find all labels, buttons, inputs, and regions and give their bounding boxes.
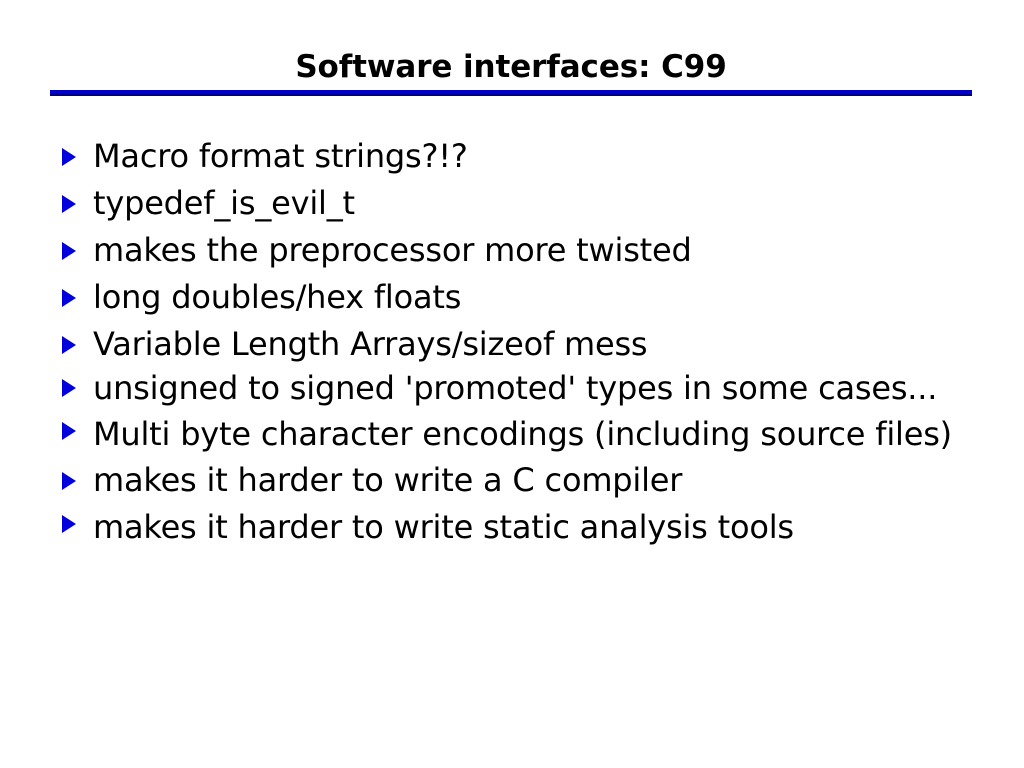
list-item: Variable Length Arrays/sizeof mess	[56, 321, 968, 368]
triangle-right-icon	[62, 242, 76, 260]
list-item-label: Variable Length Arrays/sizeof mess	[93, 321, 968, 368]
list-item: makes it harder to write a C compiler	[56, 457, 968, 504]
list-item-label: unsigned to signed 'promoted' types in s…	[93, 368, 968, 408]
list-item: Multi byte character encodings (includin…	[56, 411, 968, 457]
triangle-right-icon	[62, 422, 76, 440]
list-item: typedef_is_evil_t	[56, 180, 968, 227]
triangle-right-icon	[62, 289, 76, 307]
list-item: long doubles/hex floats	[56, 274, 968, 321]
list-item-label: Multi byte character encodings (includin…	[93, 411, 968, 457]
list-item: makes the preprocessor more twisted	[56, 227, 968, 274]
list-item: makes it harder to write static analysis…	[56, 504, 968, 550]
page-title: Software interfaces: C99	[50, 50, 972, 84]
list-item-label: Macro format strings?!?	[93, 133, 968, 180]
list-item: Macro format strings?!?	[56, 133, 968, 180]
triangle-right-icon	[62, 195, 76, 213]
triangle-right-icon	[62, 472, 76, 490]
list-item-label: makes the preprocessor more twisted	[93, 227, 968, 274]
triangle-right-icon	[62, 148, 76, 166]
title-underline-rule	[50, 90, 972, 96]
list-item-label: long doubles/hex floats	[93, 274, 968, 321]
bullet-list: Macro format strings?!? typedef_is_evil_…	[56, 133, 968, 550]
list-item-label: typedef_is_evil_t	[93, 180, 968, 227]
triangle-right-icon	[62, 336, 76, 354]
list-item-label: makes it harder to write a C compiler	[93, 457, 968, 504]
triangle-right-icon	[62, 515, 76, 533]
list-item-label: makes it harder to write static analysis…	[93, 504, 968, 550]
triangle-right-icon	[62, 379, 76, 397]
presentation-slide: Software interfaces: C99 Macro format st…	[0, 0, 1024, 768]
list-item: unsigned to signed 'promoted' types in s…	[56, 368, 968, 411]
